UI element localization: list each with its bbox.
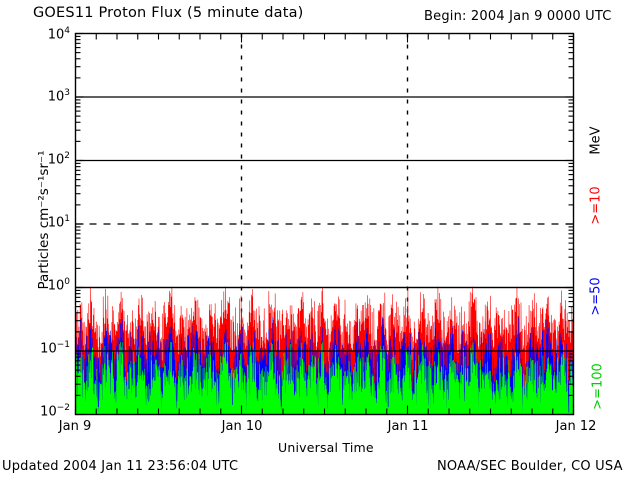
proton-flux-plot xyxy=(0,0,640,480)
chart-page: GOES11 Proton Flux (5 minute data) Begin… xyxy=(0,0,640,480)
data-layer xyxy=(76,287,574,415)
